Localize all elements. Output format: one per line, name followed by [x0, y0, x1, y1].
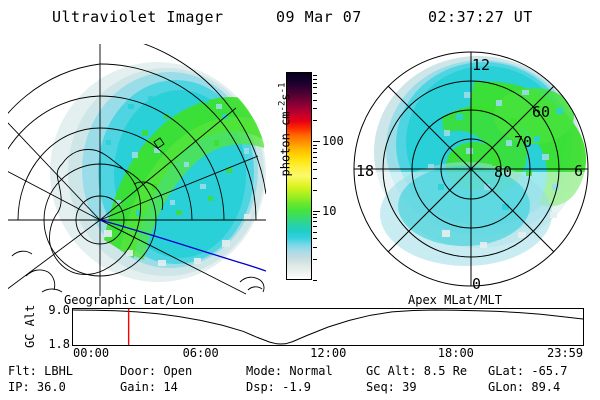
timeline-x-ticks: 00:0006:0012:0018:0023:59 — [0, 346, 600, 362]
colorbar-minor-tick — [313, 120, 317, 121]
status-gain: Gain: 14 — [120, 380, 178, 394]
timeline-y-tick-label: 9.0 — [48, 303, 70, 317]
uvi-display: Ultraviolet Imager 09 Mar 07 02:37:27 UT — [0, 0, 600, 400]
colorbar-major-tick — [313, 141, 320, 142]
observation-date: 09 Mar 07 — [276, 8, 362, 26]
status-ip: IP: 36.0 — [8, 380, 66, 394]
orbit-timeline[interactable]: GC Alt 9.01.8 00:0006:0012:0018:0023:59 — [0, 302, 600, 358]
mlt-label-18: 18 — [356, 162, 374, 180]
colorbar: 10100 photon cm-2s-1 — [272, 64, 344, 292]
colorbar-minor-tick — [313, 280, 317, 281]
colorbar-minor-tick — [313, 247, 317, 248]
status-seq: Seq: 39 — [366, 380, 417, 394]
magnetic-grid — [354, 52, 588, 286]
colorbar-minor-tick — [313, 214, 317, 215]
colorbar-minor-tick — [313, 75, 317, 76]
lat-label-80: 80 — [494, 163, 512, 181]
mlt-label-6: 6 — [574, 162, 583, 180]
status-dsp: Dsp: -1.9 — [246, 380, 311, 394]
colorbar-major-tick — [313, 211, 320, 212]
geographic-plot-svg — [8, 44, 266, 296]
colorbar-minor-tick — [313, 226, 317, 227]
status-door: Door: Open — [120, 364, 192, 378]
colorbar-tick-label: 10 — [322, 204, 336, 218]
timeline-x-tick-label: 06:00 — [183, 346, 219, 360]
timeline-x-tick-label: 23:59 — [547, 346, 583, 360]
colorbar-minor-tick — [313, 87, 317, 88]
lat-label-60: 60 — [532, 103, 550, 121]
header: Ultraviolet Imager 09 Mar 07 02:37:27 UT — [0, 8, 600, 30]
colorbar-minor-tick — [313, 259, 317, 260]
colorbar-minor-tick — [313, 190, 317, 191]
colorbar-minor-tick — [313, 178, 317, 179]
colorbar-minor-tick — [313, 152, 317, 153]
magnetic-plot-svg: 60 70 80 12 6 0 18 — [346, 44, 596, 294]
colorbar-minor-tick — [313, 217, 317, 218]
colorbar-minor-tick — [313, 83, 317, 84]
status-glon: GLon: 89.4 — [488, 380, 560, 394]
geographic-plot[interactable] — [8, 44, 266, 296]
timeline-x-tick-label: 18:00 — [438, 346, 474, 360]
aurora-emission-geographic — [44, 62, 266, 286]
colorbar-minor-tick — [313, 169, 317, 170]
status-mode: Mode: Normal — [246, 364, 333, 378]
timeline-trace-svg — [73, 309, 583, 345]
colorbar-minor-tick — [313, 93, 317, 94]
colorbar-minor-tick — [313, 162, 317, 163]
timeline-y-ticks: 9.01.8 — [30, 308, 70, 346]
colorbar-minor-tick — [313, 79, 317, 80]
status-bar: Flt: LBHLDoor: OpenMode: NormalGC Alt: 8… — [0, 364, 600, 398]
colorbar-minor-tick — [313, 221, 317, 222]
mlt-label-12: 12 — [472, 56, 490, 74]
altitude-trace — [73, 310, 583, 344]
lat-label-70: 70 — [514, 133, 532, 151]
colorbar-minor-tick — [313, 232, 317, 233]
magnetic-plot[interactable]: 60 70 80 12 6 0 18 — [346, 44, 596, 294]
colorbar-minor-tick — [313, 157, 317, 158]
colorbar-minor-tick — [313, 108, 317, 109]
timeline-y-axis-label: GC Alt — [6, 304, 26, 348]
colorbar-minor-tick — [313, 148, 317, 149]
instrument-title: Ultraviolet Imager — [52, 8, 224, 26]
mlt-label-0: 0 — [472, 275, 481, 293]
timeline-x-tick-label: 12:00 — [310, 346, 346, 360]
status-glat: GLat: -65.7 — [488, 364, 567, 378]
colorbar-axis-label: photon cm-2s-1 — [278, 55, 293, 205]
timeline-plot-box[interactable] — [72, 308, 584, 346]
colorbar-minor-tick — [313, 238, 317, 239]
observation-time: 02:37:27 UT — [428, 8, 533, 26]
timeline-x-tick-label: 00:00 — [73, 346, 109, 360]
colorbar-minor-tick — [313, 100, 317, 101]
colorbar-minor-tick — [313, 145, 317, 146]
status-gc-alt: GC Alt: 8.5 Re — [366, 364, 467, 378]
colorbar-tick-label: 100 — [322, 134, 344, 148]
status-flt: Flt: LBHL — [8, 364, 73, 378]
